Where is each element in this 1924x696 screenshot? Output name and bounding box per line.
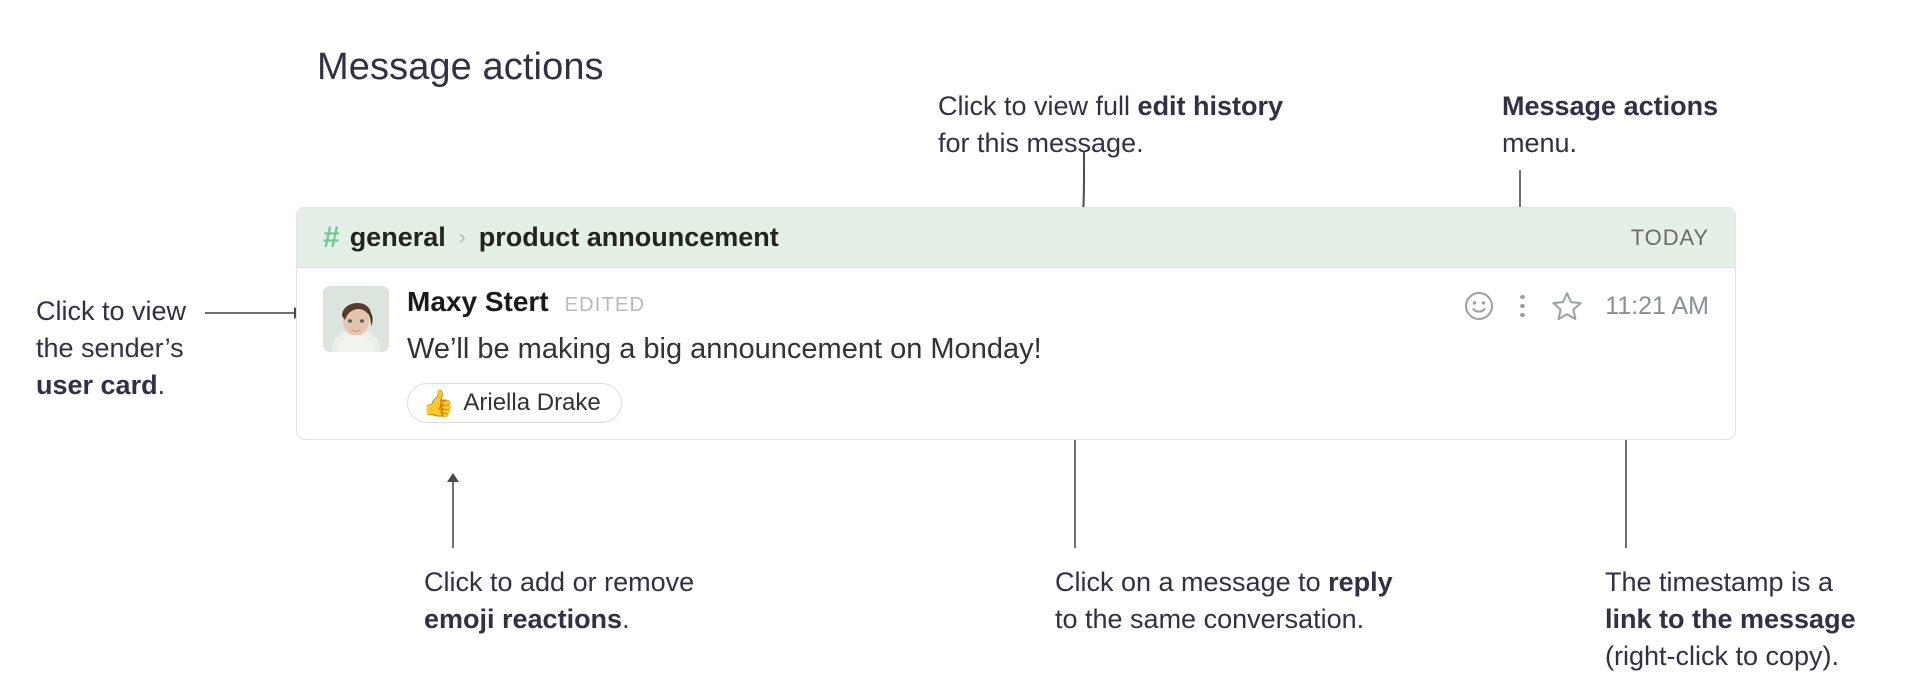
annotation-arrow-reply: [1074, 425, 1076, 548]
annotation-emoji-line1: Click to add or remove: [424, 564, 694, 601]
dot: [1520, 304, 1525, 308]
page-title: Message actions: [317, 46, 604, 89]
annotation-reply-line1-bold: reply: [1328, 567, 1393, 597]
dot: [1520, 313, 1525, 317]
message-controls: 11:21 AM: [1464, 290, 1709, 322]
annotation-actions-menu-line2: menu.: [1502, 125, 1718, 162]
annotation-reply-line2: to the same conversation.: [1055, 601, 1393, 638]
annotation-timestamp-line3: (right-click to copy).: [1605, 638, 1856, 675]
annotation-user-card-line1: Click to view: [36, 293, 186, 330]
annotation-reply: Click on a message to reply to the same …: [1055, 564, 1393, 638]
annotation-edit-history-line1: Click to view full edit history: [938, 88, 1283, 125]
reaction-pill[interactable]: 👍 Ariella Drake: [407, 383, 622, 423]
annotation-user-card-line3-tail: .: [158, 370, 166, 400]
stream-name[interactable]: general: [350, 222, 446, 253]
message-card: # general › product announcement TODAY M…: [296, 207, 1736, 440]
message-row[interactable]: Maxy Stert EDITED We’ll be making a big …: [297, 268, 1735, 439]
annotation-actions-menu-line1: Message actions: [1502, 91, 1718, 121]
hash-icon: #: [323, 223, 340, 253]
recipient-date: TODAY: [1631, 225, 1709, 251]
edited-badge[interactable]: EDITED: [565, 294, 646, 317]
star-icon[interactable]: [1551, 290, 1583, 322]
chevron-right-icon: ›: [459, 226, 466, 250]
annotation-edit-history-line1-regular: Click to view full: [938, 91, 1138, 121]
annotation-actions-menu: Message actions menu.: [1502, 88, 1718, 162]
recipient-bar[interactable]: # general › product announcement TODAY: [297, 208, 1735, 268]
annotation-reply-line1-regular: Click on a message to: [1055, 567, 1328, 597]
annotation-emoji-line2-tail: .: [622, 604, 630, 634]
annotation-emoji-reactions: Click to add or remove emoji reactions.: [424, 564, 694, 638]
emoji-reaction-icon[interactable]: [1464, 291, 1494, 321]
vertical-dots-icon[interactable]: [1520, 292, 1525, 320]
annotation-arrow-emoji: [452, 480, 454, 548]
thumbs-up-icon: 👍: [422, 390, 454, 416]
avatar[interactable]: [323, 286, 389, 352]
reaction-label: Ariella Drake: [463, 389, 600, 417]
annotation-user-card: Click to view the sender’s user card.: [36, 293, 186, 404]
message-timestamp[interactable]: 11:21 AM: [1605, 292, 1709, 321]
annotation-user-card-line2: the sender’s: [36, 330, 186, 367]
sender-name[interactable]: Maxy Stert: [407, 286, 549, 318]
annotation-timestamp-line2-bold: link to the message: [1605, 604, 1856, 634]
message-body[interactable]: We’ll be making a big announcement on Mo…: [407, 329, 1709, 369]
reaction-list: 👍 Ariella Drake: [407, 383, 1709, 423]
topic-name[interactable]: product announcement: [479, 222, 779, 253]
annotation-user-card-line3-bold: user card: [36, 370, 158, 400]
arrow-head-up-icon: [447, 473, 459, 482]
annotation-arrow-user-card: [205, 312, 300, 314]
annotation-timestamp-line1: The timestamp is a: [1605, 564, 1856, 601]
annotation-emoji-line2-bold: emoji reactions: [424, 604, 622, 634]
annotation-timestamp: The timestamp is a link to the message (…: [1605, 564, 1856, 675]
annotation-edit-history-line1-bold: edit history: [1138, 91, 1284, 121]
dot: [1520, 295, 1525, 299]
